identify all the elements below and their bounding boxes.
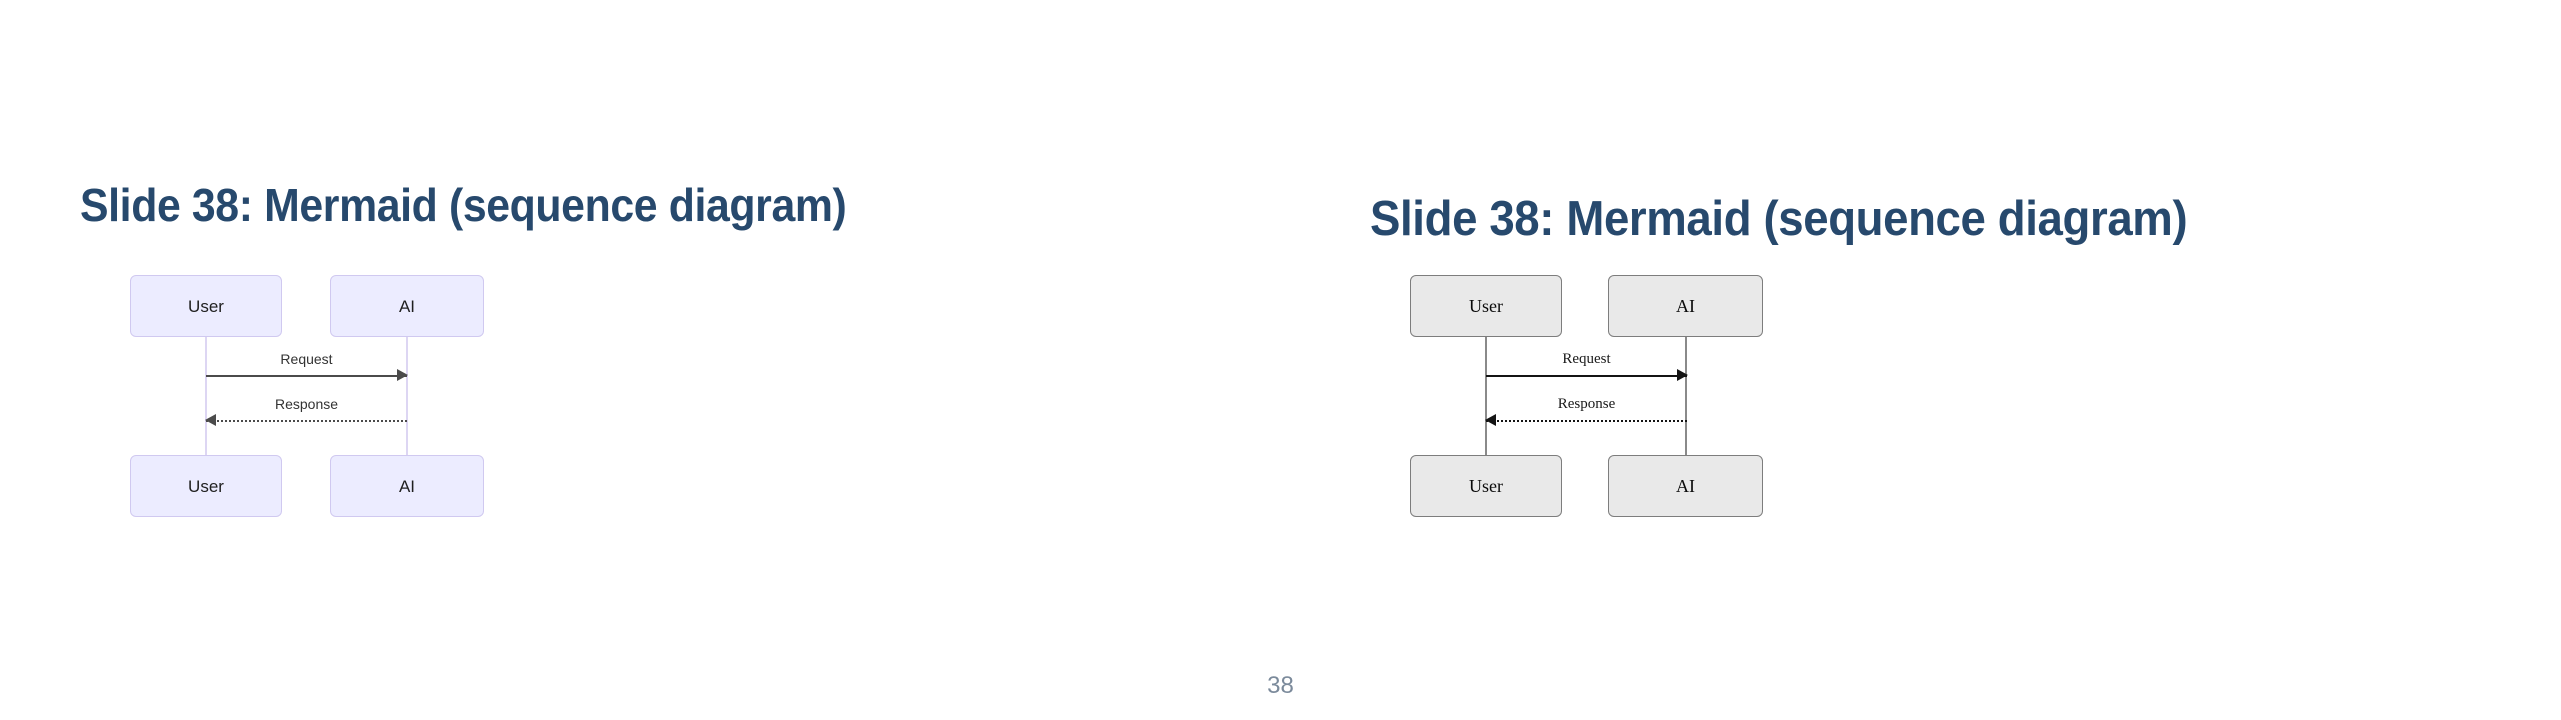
participant-label-user-bottom: User bbox=[188, 478, 224, 495]
participant-box-ai-bottom: AI bbox=[1608, 455, 1763, 517]
participant-box-user-bottom: User bbox=[130, 455, 282, 517]
message-line-response bbox=[206, 420, 407, 422]
participant-label-ai-bottom: AI bbox=[1676, 477, 1695, 495]
page-number: 38 bbox=[0, 672, 2561, 700]
message-label-response: Response bbox=[1486, 396, 1687, 413]
participant-label-user-bottom: User bbox=[1469, 477, 1503, 495]
participant-box-ai-top: AI bbox=[1608, 275, 1763, 337]
sequence-diagram-left: User AI Request Response User AI bbox=[130, 275, 530, 525]
page-title-left: Slide 38: Mermaid (sequence diagram) bbox=[80, 178, 846, 232]
message-response: Response bbox=[1486, 396, 1687, 436]
page-title-right: Slide 38: Mermaid (sequence diagram) bbox=[1370, 191, 2187, 247]
participant-box-user-bottom: User bbox=[1410, 455, 1562, 517]
message-response: Response bbox=[206, 396, 407, 436]
participant-box-user-top: User bbox=[1410, 275, 1562, 337]
arrowhead-left-icon bbox=[205, 414, 216, 426]
message-label-request: Request bbox=[206, 351, 407, 367]
message-request: Request bbox=[206, 351, 407, 391]
arrowhead-right-icon bbox=[1677, 369, 1688, 381]
participant-box-ai-top: AI bbox=[330, 275, 484, 337]
participant-label-user-top: User bbox=[1469, 297, 1503, 315]
participant-label-user-top: User bbox=[188, 298, 224, 315]
participant-box-user-top: User bbox=[130, 275, 282, 337]
message-line-response bbox=[1486, 420, 1687, 422]
message-line-request bbox=[1486, 375, 1687, 377]
arrowhead-right-icon bbox=[397, 369, 408, 381]
arrowhead-left-icon bbox=[1485, 414, 1496, 426]
participant-box-ai-bottom: AI bbox=[330, 455, 484, 517]
participant-label-ai-top: AI bbox=[1676, 297, 1695, 315]
message-line-request bbox=[206, 375, 407, 377]
message-label-response: Response bbox=[206, 396, 407, 412]
participant-label-ai-bottom: AI bbox=[399, 478, 415, 495]
message-request: Request bbox=[1486, 351, 1687, 391]
sequence-diagram-right: User AI Request Response User AI bbox=[1410, 275, 1810, 525]
slide-panel-left: Slide 38: Mermaid (sequence diagram) Use… bbox=[0, 0, 1280, 720]
message-label-request: Request bbox=[1486, 351, 1687, 368]
participant-label-ai-top: AI bbox=[399, 298, 415, 315]
